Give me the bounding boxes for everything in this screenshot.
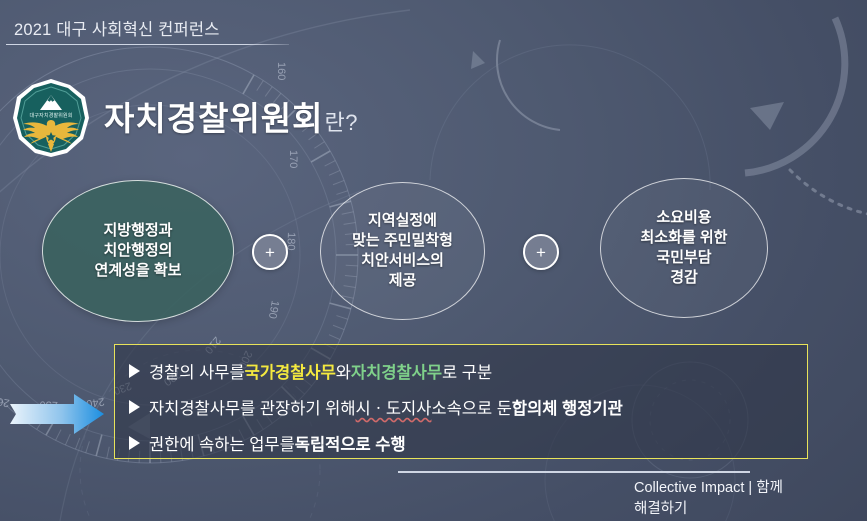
page-title-main: 자치경찰위원회 — [104, 92, 324, 140]
svg-text:260: 260 — [0, 394, 11, 409]
plus-icon: + — [536, 244, 546, 261]
bullet-1-seg-4-highlight-green: 자치경찰사무 — [351, 359, 442, 383]
bullet-item-2: 자치경찰사무를 관장하기 위해 시ㆍ도지사 소속으로 둔 합의체 행정기관 — [129, 389, 807, 425]
bullet-3-seg-1: 권한에 속하는 업무를 — [149, 431, 295, 455]
bullet-2-seg-3: 소속으로 둔 — [431, 395, 511, 419]
left-arrow-graphic — [10, 394, 104, 434]
circle-2-line-1: 지역실정에 — [352, 211, 453, 231]
concept-circle-2-text: 지역실정에 맞는 주민밀착형 치안서비스의 제공 — [352, 211, 453, 291]
organization-logo: 대구자치경찰위원회 — [12, 78, 90, 158]
circle-1-line-2: 치안행정의 — [95, 241, 182, 261]
header: 2021 대구 사회혁신 컨퍼런스 — [14, 16, 304, 40]
footer: Collective Impact | 함께 해결하기 — [634, 478, 859, 520]
triangle-bullet-icon — [129, 436, 140, 450]
concept-circle-3-text: 소요비용 최소화를 위한 국민부담 경감 — [641, 208, 728, 288]
slide-canvas: 160 170 180 190 200 210 220 230 240 250 … — [0, 0, 867, 521]
footer-divider — [398, 471, 750, 473]
bullet-1-seg-5: 로 구분 — [442, 359, 492, 383]
circle-2-line-4: 제공 — [352, 271, 453, 291]
circle-1-line-3: 연계성을 확보 — [95, 261, 182, 281]
footer-line-2: 해결하기 — [634, 499, 859, 520]
page-title-suffix: 란? — [325, 105, 358, 137]
concept-circle-1: 지방행정과 치안행정의 연계성을 확보 — [42, 180, 234, 322]
shield-emblem-icon: 대구자치경찰위원회 — [12, 78, 90, 158]
bullet-2-seg-4-bold: 합의체 행정기관 — [512, 395, 623, 419]
page-title: 자치경찰위원회 란? — [104, 92, 358, 140]
circle-3-line-1: 소요비용 — [641, 208, 728, 228]
concept-circle-1-text: 지방행정과 치안행정의 연계성을 확보 — [95, 221, 182, 281]
bullet-item-3: 권한에 속하는 업무를 독립적으로 수행 — [129, 425, 807, 461]
concept-circle-3: 소요비용 최소화를 위한 국민부담 경감 — [600, 178, 768, 318]
bullet-1-seg-1: 경찰의 사무를 — [149, 359, 245, 383]
triangle-bullet-icon — [129, 400, 140, 414]
bullet-2-seg-1: 자치경찰사무를 관장하기 위해 — [149, 395, 356, 419]
bullet-item-1: 경찰의 사무를 국가경찰사무 와 자치경찰사무 로 구분 — [129, 353, 807, 389]
plus-connector-1: + — [252, 234, 288, 270]
emblem-org-text: 대구자치경찰위원회 — [30, 111, 73, 119]
circle-2-line-3: 치안서비스의 — [352, 251, 453, 271]
bullet-3-seg-2-bold: 독립적으로 수행 — [295, 431, 406, 455]
svg-text:190: 190 — [266, 299, 281, 319]
circle-3-line-3: 국민부담 — [641, 248, 728, 268]
concept-circle-2: 지역실정에 맞는 주민밀착형 치안서비스의 제공 — [320, 182, 485, 320]
plus-connector-2: + — [523, 234, 559, 270]
svg-text:250: 250 — [39, 398, 58, 411]
header-divider — [6, 44, 289, 45]
circle-2-line-2: 맞는 주민밀착형 — [352, 231, 453, 251]
bullet-1-seg-3: 와 — [336, 359, 351, 383]
circle-3-line-2: 최소화를 위한 — [641, 228, 728, 248]
header-title: 2021 대구 사회혁신 컨퍼런스 — [14, 16, 304, 40]
svg-text:160: 160 — [275, 62, 287, 80]
triangle-bullet-icon — [129, 364, 140, 378]
definition-list-box: 경찰의 사무를 국가경찰사무 와 자치경찰사무 로 구분 자치경찰사무를 관장하… — [114, 344, 808, 459]
circle-3-line-4: 경감 — [641, 268, 728, 288]
bullet-2-seg-2-spellcheck: 시ㆍ도지사 — [356, 395, 432, 419]
plus-icon: + — [265, 244, 275, 261]
bullet-1-seg-2-highlight-yellow: 국가경찰사무 — [245, 359, 336, 383]
svg-text:170: 170 — [287, 150, 299, 168]
footer-line-1: Collective Impact | 함께 — [634, 480, 783, 496]
svg-text:240: 240 — [85, 395, 105, 409]
circle-1-line-1: 지방행정과 — [95, 221, 182, 241]
